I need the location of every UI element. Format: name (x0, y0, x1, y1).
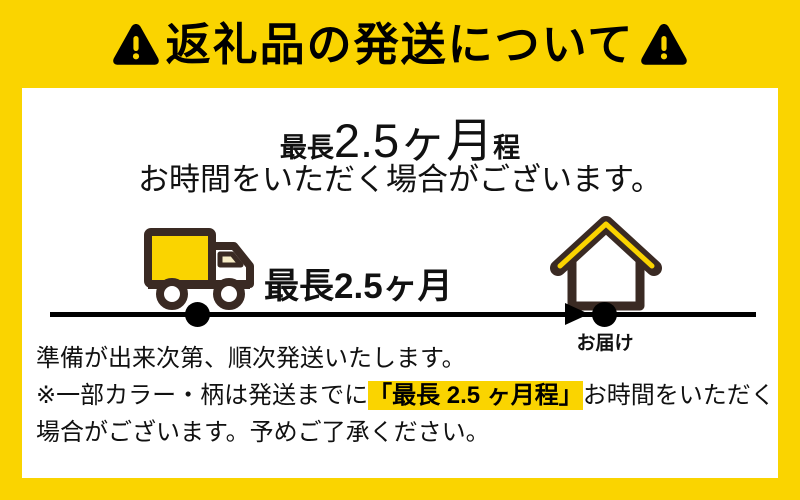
note-line-2-before: ※一部カラー・柄は発送までに (36, 382, 368, 409)
notes-block: 準備が出来次第、順次発送いたします。 ※一部カラー・柄は発送までに「最長 2.5… (36, 340, 778, 451)
note-highlight: 「最長 2.5 ヶ月程」 (368, 381, 583, 410)
delivery-timeline: 最長2.5ヶ月 お届け (22, 204, 778, 350)
warning-triangle-icon (112, 22, 160, 66)
shipping-notice-poster: 返礼品の発送について 最長2.5ヶ月程 お時間をいただく場合がございます。 (0, 0, 800, 500)
headline-subline: お時間をいただく場合がございます。 (22, 154, 778, 199)
note-line-2: ※一部カラー・柄は発送までに「最長 2.5 ヶ月程」お時間をいただく (36, 377, 778, 414)
timeline-end-dot (592, 302, 617, 327)
header-banner: 返礼品の発送について (0, 0, 800, 88)
house-icon (550, 214, 662, 316)
timeline-start-dot (185, 302, 210, 327)
content-card: 最長2.5ヶ月程 お時間をいただく場合がございます。 (22, 88, 778, 478)
timeline-span-label: 最長2.5ヶ月 (264, 258, 453, 309)
timeline-arrow-icon (565, 303, 589, 325)
note-line-3: 場合がございます。予めご了承ください。 (36, 414, 778, 451)
warning-triangle-icon (640, 22, 688, 66)
page-title: 返礼品の発送について (166, 22, 635, 67)
note-line-2-after: お時間をいただく (583, 382, 775, 409)
timeline-axis (50, 312, 756, 317)
note-line-1: 準備が出来次第、順次発送いたします。 (36, 340, 778, 377)
